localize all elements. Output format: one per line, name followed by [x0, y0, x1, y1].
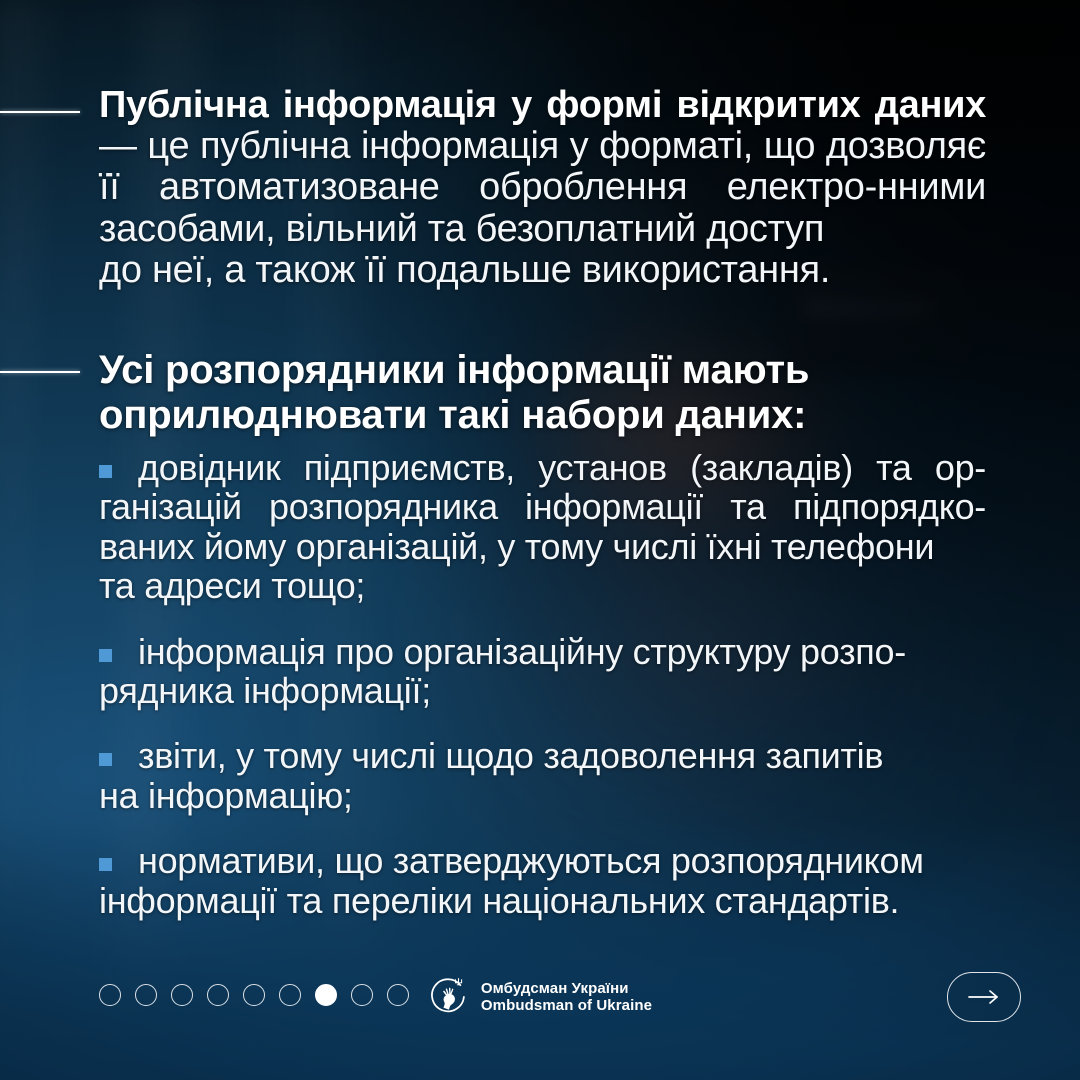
- subheading-line-2: оприлюднювати такі набори даних:: [99, 393, 806, 437]
- accent-rule-middle: [0, 371, 80, 373]
- pagination-dot[interactable]: [279, 984, 301, 1006]
- slide-content: Публічна інформація у формі відкритих да…: [0, 0, 1080, 1080]
- pagination-dot[interactable]: [351, 984, 373, 1006]
- bullet-square-icon: [99, 753, 112, 766]
- dataset-list: довідник підприємств, установ (закладів)…: [99, 448, 986, 920]
- lead-paragraph: Публічна інформація у формі відкритих да…: [99, 85, 986, 291]
- brand-logo: Омбудсман України Ombudsman of Ukraine: [428, 976, 652, 1018]
- pagination-dot[interactable]: [387, 984, 409, 1006]
- list-item-text: звіти, у тому числі щодо задоволення зап…: [138, 735, 883, 776]
- ombudsman-hand-trident-icon: [428, 976, 470, 1018]
- slide-card: Публічна інформація у формі відкритих да…: [0, 0, 1080, 1080]
- list-item-last-line: інформації та переліки національних стан…: [99, 881, 986, 920]
- pagination-dot[interactable]: [243, 984, 265, 1006]
- list-item: довідник підприємств, установ (закладів)…: [99, 448, 986, 606]
- subheading-line-1: Усі розпорядники інформації мають: [99, 348, 809, 392]
- arrow-right-icon: [967, 989, 1001, 1005]
- next-slide-button[interactable]: [947, 972, 1021, 1022]
- pagination-dot[interactable]: [171, 984, 193, 1006]
- list-item-last-line: та адреси тощо;: [99, 566, 986, 605]
- slide-footer: Омбудсман України Ombudsman of Ukraine: [0, 934, 1080, 1080]
- list-item-last-line: на інформацію;: [99, 776, 986, 815]
- subheading-block: Усі розпорядники інформації мають оприлю…: [99, 348, 986, 438]
- lead-term: Публічна інформація у формі відкритих да…: [99, 84, 986, 126]
- list-item-text: інформація про організаційну структуру р…: [138, 631, 906, 672]
- lead-definition-block: Публічна інформація у формі відкритих да…: [99, 85, 986, 291]
- accent-rule-top: [0, 111, 80, 113]
- brand-name-en: Ombudsman of Ukraine: [481, 997, 652, 1014]
- pagination-dot[interactable]: [99, 984, 121, 1006]
- brand-name-ua: Омбудсман України: [481, 980, 652, 997]
- pagination-dot[interactable]: [135, 984, 157, 1006]
- brand-text: Омбудсман України Ombudsman of Ukraine: [481, 980, 652, 1014]
- lead-definition: — це публічна інформація у форматі, що д…: [99, 125, 986, 249]
- pagination-dot-active[interactable]: [315, 984, 337, 1006]
- bullet-square-icon: [99, 649, 112, 662]
- list-item-text: довідник підприємств, установ (закладів)…: [99, 447, 986, 567]
- bullet-square-icon: [99, 465, 112, 478]
- lead-definition-last-line: до неї, а також її подальше використання…: [99, 250, 986, 291]
- pagination-dots[interactable]: [99, 984, 409, 1006]
- list-item-last-line: рядника інформації;: [99, 671, 986, 710]
- list-item-text: нормативи, що затверджуються розпорядник…: [138, 840, 924, 881]
- bullet-square-icon: [99, 858, 112, 871]
- list-item: звіти, у тому числі щодо задоволення зап…: [99, 736, 986, 815]
- list-item: нормативи, що затверджуються розпорядник…: [99, 841, 986, 920]
- list-item: інформація про організаційну структуру р…: [99, 632, 986, 711]
- subheading: Усі розпорядники інформації мають оприлю…: [99, 348, 986, 438]
- pagination-dot[interactable]: [207, 984, 229, 1006]
